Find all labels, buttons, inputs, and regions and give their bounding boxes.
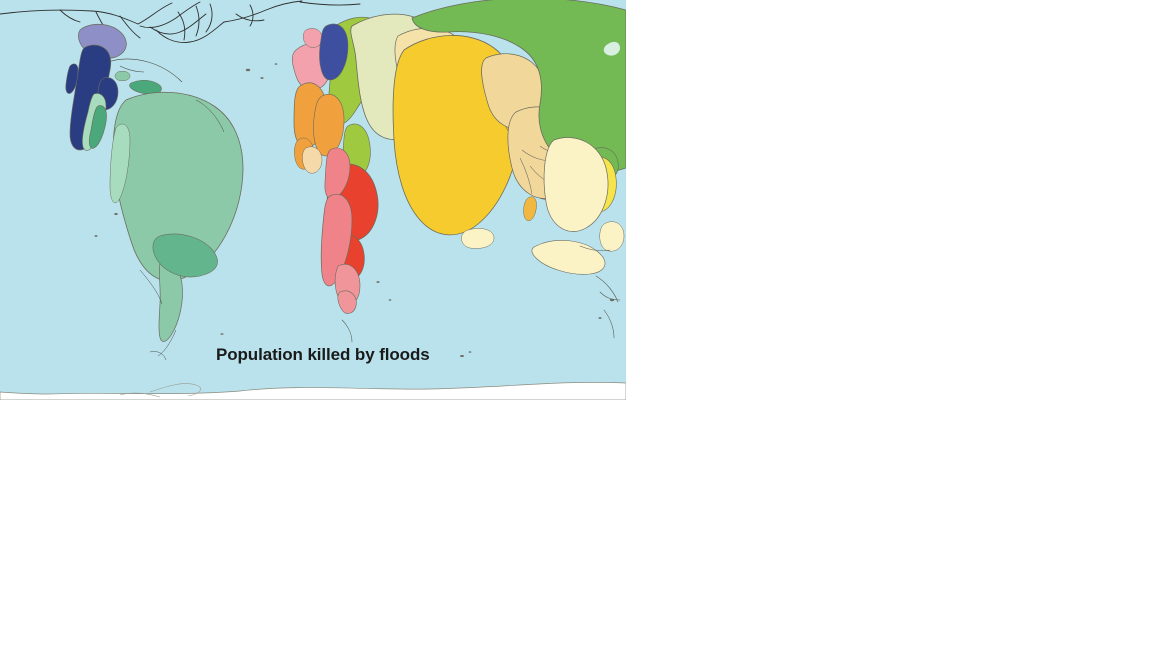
region-caribbean-islands-small (115, 71, 130, 81)
region-southeastern-asia-philippines (600, 222, 624, 252)
map-caption: Population killed by floods (216, 344, 466, 366)
cartogram-svg (0, 0, 626, 400)
region-western-africa-pale (302, 147, 322, 174)
slide-canvas: Population killed by floods (0, 0, 1152, 648)
region-northern-africa-coast-sliver (303, 28, 322, 47)
cartogram-figure (0, 0, 626, 400)
region-southern-asia-small-island (461, 228, 494, 248)
